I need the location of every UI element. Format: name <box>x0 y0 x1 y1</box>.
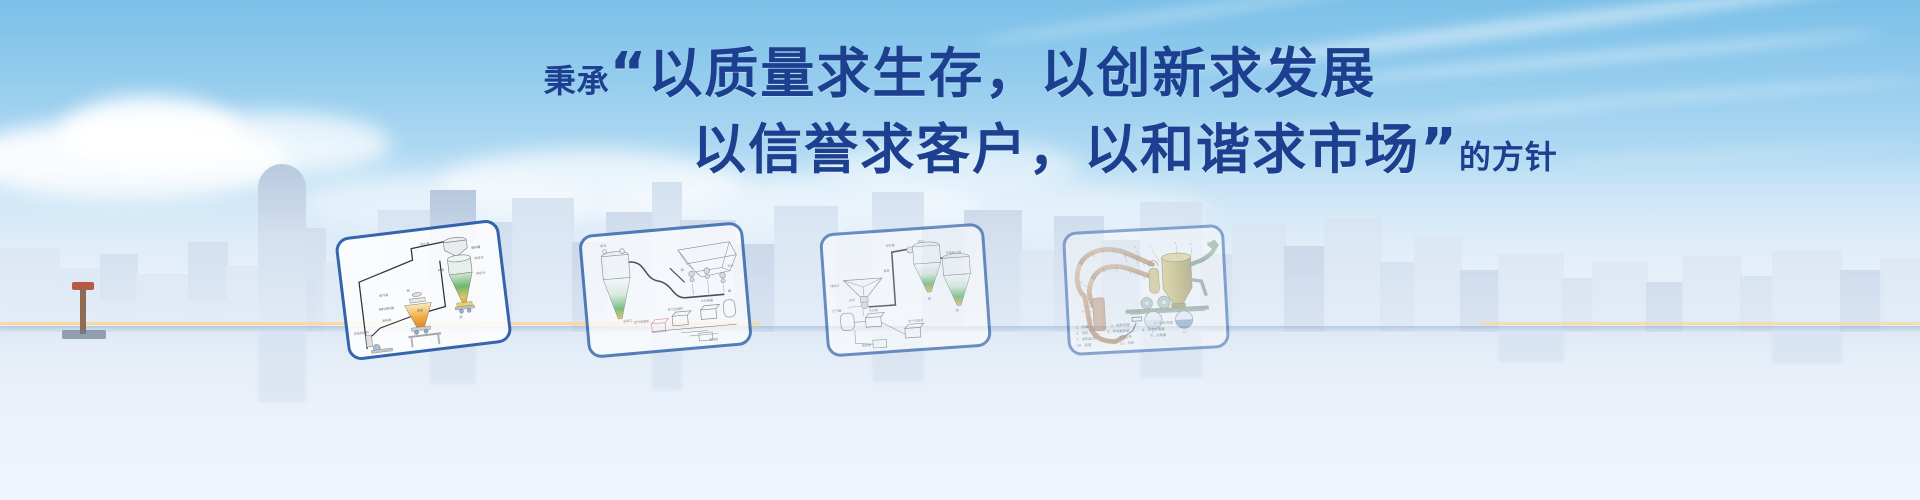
svg-text:阀: 阀 <box>406 288 410 293</box>
legend-item: 9、分离器 <box>1150 332 1182 339</box>
svg-text:2: 2 <box>1134 245 1136 249</box>
svg-text:水分离: 水分离 <box>869 307 879 313</box>
svg-text:8: 8 <box>1082 309 1084 313</box>
svg-text:电控柜: 电控柜 <box>861 342 871 348</box>
svg-text:料仓: 料仓 <box>918 238 924 243</box>
diagram-card-1[interactable]: 除尘器 储料罐 料位计 料位计 料仓 排气阀 物料进料器 出料阀 阀 管道 空压… <box>334 218 513 361</box>
svg-text:电控柜: 电控柜 <box>709 336 719 342</box>
svg-text:阀: 阀 <box>459 314 463 319</box>
svg-text:1: 1 <box>1121 248 1123 252</box>
svg-text:空气罐: 空气罐 <box>832 308 842 314</box>
svg-text:阀: 阀 <box>680 267 683 272</box>
svg-text:5: 5 <box>1190 242 1192 246</box>
hero-banner: 秉承“以质量求生存，以创新求发展 以信誉求客户，以和谐求市场”的方针 <box>0 0 1920 500</box>
svg-text:管道: 管道 <box>883 268 889 273</box>
svg-text:7: 7 <box>1080 282 1082 286</box>
water-reflection <box>0 332 1920 500</box>
diagram-card-4[interactable]: 123 456 78 910 1、吸嘴 2、吸料软管 3、吸料弯管 4、风机 5… <box>1062 224 1230 356</box>
diagram-card-3[interactable]: 储料斗 分料 管道 分配器 料仓 车载除尘器 空气罐 水分离 空气压缩机 电控柜… <box>819 222 992 357</box>
svg-text:储料斗: 储料斗 <box>830 283 840 289</box>
svg-text:料斗: 料斗 <box>727 262 734 268</box>
svg-text:分料: 分料 <box>849 297 855 302</box>
pneumatic-conveying-diagram-2: 料仓 出料口 料斗 阀 空气压缩机 空气压缩机 水分离器 罐 电控柜 <box>584 228 746 354</box>
pneumatic-conveying-diagram-3: 储料斗 分料 管道 分配器 料仓 车载除尘器 空气罐 水分离 空气压缩机 电控柜… <box>825 229 986 353</box>
svg-text:管道: 管道 <box>416 307 423 313</box>
svg-text:料仓: 料仓 <box>438 267 445 273</box>
pneumatic-conveying-diagram-1: 除尘器 储料罐 料位计 料位计 料仓 排气阀 物料进料器 出料阀 阀 管道 空压… <box>341 225 507 356</box>
svg-text:料仓: 料仓 <box>600 243 607 249</box>
svg-text:6: 6 <box>1207 240 1209 244</box>
svg-text:3: 3 <box>1149 244 1151 248</box>
svg-text:阀: 阀 <box>955 307 958 312</box>
product-diagram-cards: 除尘器 储料罐 料位计 料位计 料仓 排气阀 物料进料器 出料阀 阀 管道 空压… <box>0 228 1920 356</box>
svg-text:罐: 罐 <box>728 288 731 293</box>
svg-text:4: 4 <box>1174 241 1176 245</box>
svg-text:出料口: 出料口 <box>623 318 633 324</box>
svg-text:阀: 阀 <box>928 296 931 301</box>
svg-text:分配器: 分配器 <box>885 242 895 248</box>
diagram-card-2[interactable]: 料仓 出料口 料斗 阀 空气压缩机 空气压缩机 水分离器 罐 电控柜 <box>578 221 753 359</box>
